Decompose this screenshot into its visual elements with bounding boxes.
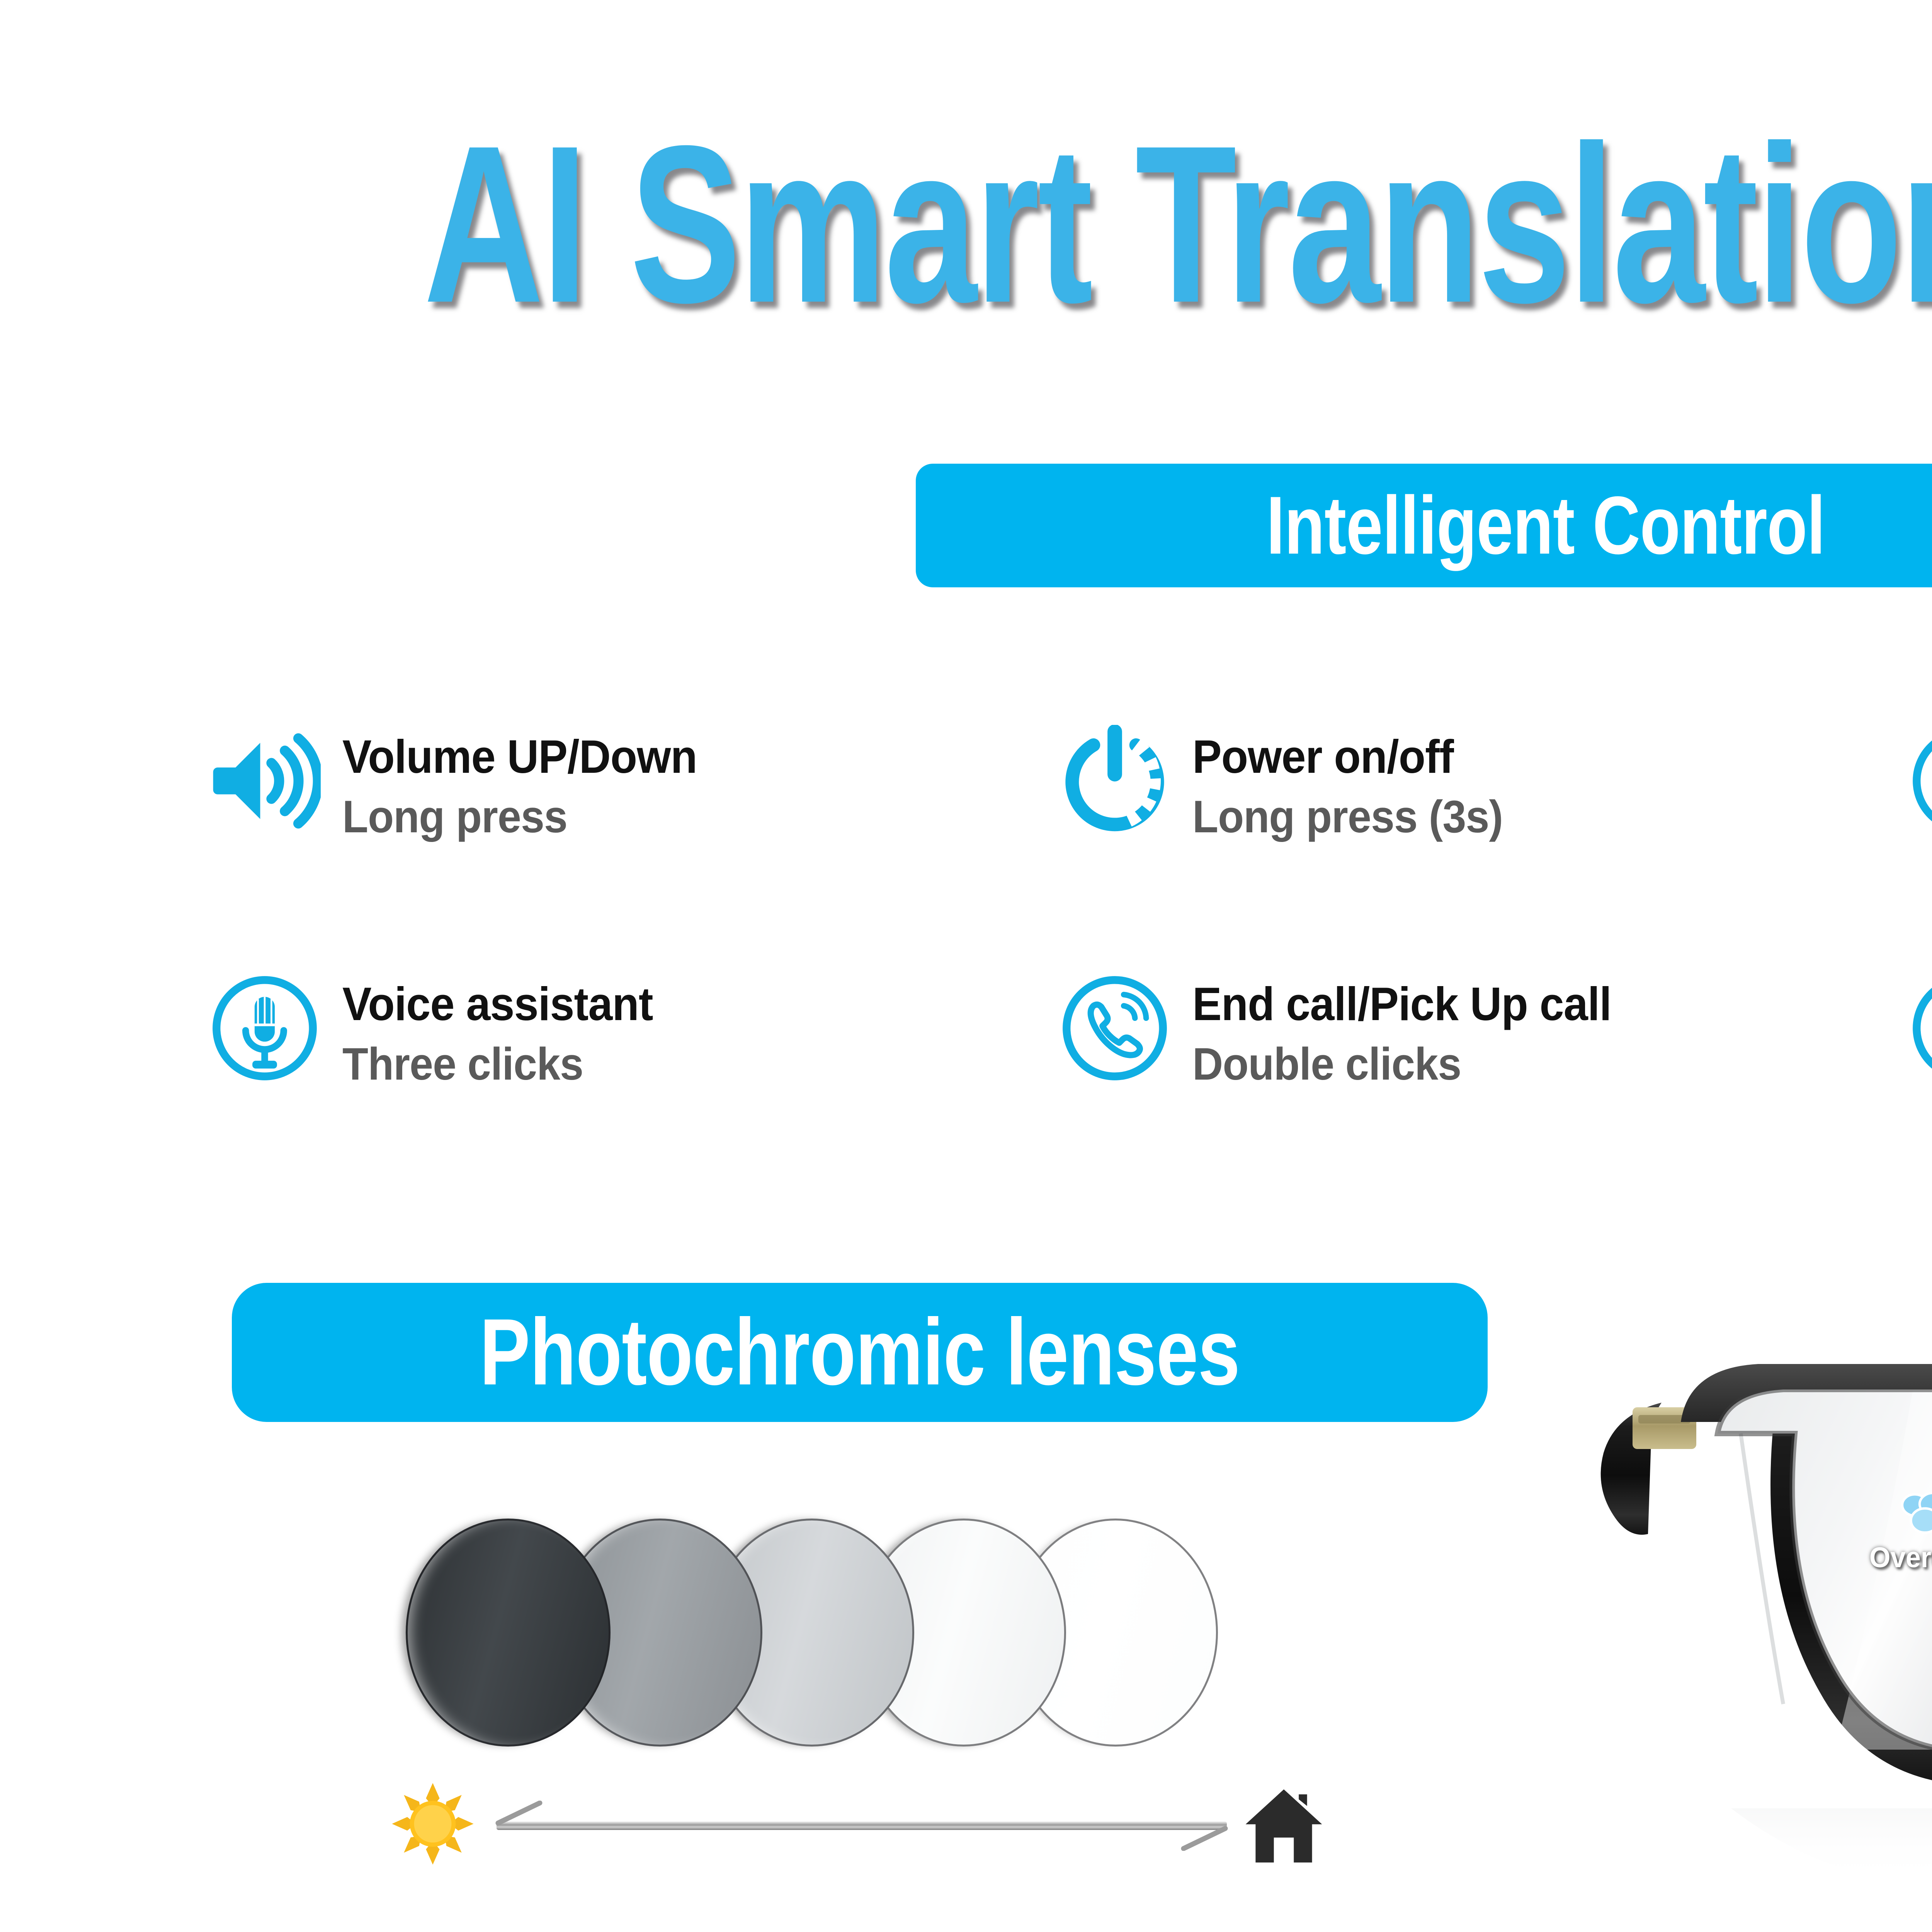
feature-action: Long press (3s) xyxy=(1192,791,1503,844)
feature-title: End call/Pick Up call xyxy=(1192,979,1611,1029)
feature-call-text: End call/Pick Up call Double clicks xyxy=(1192,974,1643,1091)
feature-playback: Pause/Start music/playback Double clicks xyxy=(1909,726,1932,974)
lens-shade-stack xyxy=(406,1519,1318,1754)
power-icon xyxy=(1059,725,1171,837)
play-next-icon xyxy=(1909,725,1932,837)
feature-power-text: Power on/off Long press (3s) xyxy=(1192,726,1526,844)
intelligent-control-label: Intelligent Control xyxy=(1266,485,1825,567)
photochromic-lenses-label: Photochromic lenses xyxy=(480,1305,1240,1400)
lens-disc-darkest xyxy=(406,1519,611,1747)
phone-call-icon xyxy=(1059,972,1171,1084)
feature-voice-assistant: Voice assistant Three clicks xyxy=(209,974,1059,1221)
glasses-product-image: Overcast xyxy=(1565,1306,1932,1909)
sun-icon xyxy=(390,1781,475,1866)
overcast-clouds-icon xyxy=(1898,1488,1932,1538)
feature-power: Power on/off Long press (3s) xyxy=(1059,726,1909,974)
feature-title: Volume UP/Down xyxy=(342,732,697,782)
feature-volume: Volume UP/Down Long press xyxy=(209,726,1059,974)
feature-grid: Volume UP/Down Long press Power on/off L… xyxy=(209,726,1932,1221)
microphone-icon xyxy=(209,972,321,1084)
glasses-svg xyxy=(1565,1306,1932,1909)
feature-reject-call: Reject call Long press (2s) xyxy=(1909,974,1932,1221)
volume-speaker-icon xyxy=(209,725,321,837)
feature-action: Three clicks xyxy=(342,1038,653,1091)
double-headed-arrow-icon xyxy=(489,1801,1235,1851)
feature-end-pickup-call: End call/Pick Up call Double clicks xyxy=(1059,974,1909,1221)
feature-action: Long press xyxy=(342,791,697,844)
feature-action: Double clicks xyxy=(1192,1038,1611,1091)
photochromic-lenses-banner: Photochromic lenses xyxy=(232,1283,1488,1422)
feature-title: Power on/off xyxy=(1192,732,1503,782)
weather-badge-overcast: Overcast xyxy=(1866,1488,1932,1574)
weather-label: Overcast xyxy=(1869,1541,1932,1574)
home-icon xyxy=(1242,1784,1325,1866)
lens-transition-row xyxy=(390,1770,1325,1878)
page-title: AI Smart Translation Glasses xyxy=(424,112,1932,336)
intelligent-control-banner: Intelligent Control xyxy=(916,464,1932,587)
phone-reject-icon xyxy=(1909,972,1932,1084)
feature-title: Voice assistant xyxy=(342,979,653,1029)
page-title-container: AI Smart Translation Glasses xyxy=(0,128,1932,321)
feature-voice-text: Voice assistant Three clicks xyxy=(342,974,676,1091)
feature-volume-text: Volume UP/Down Long press xyxy=(342,726,724,844)
